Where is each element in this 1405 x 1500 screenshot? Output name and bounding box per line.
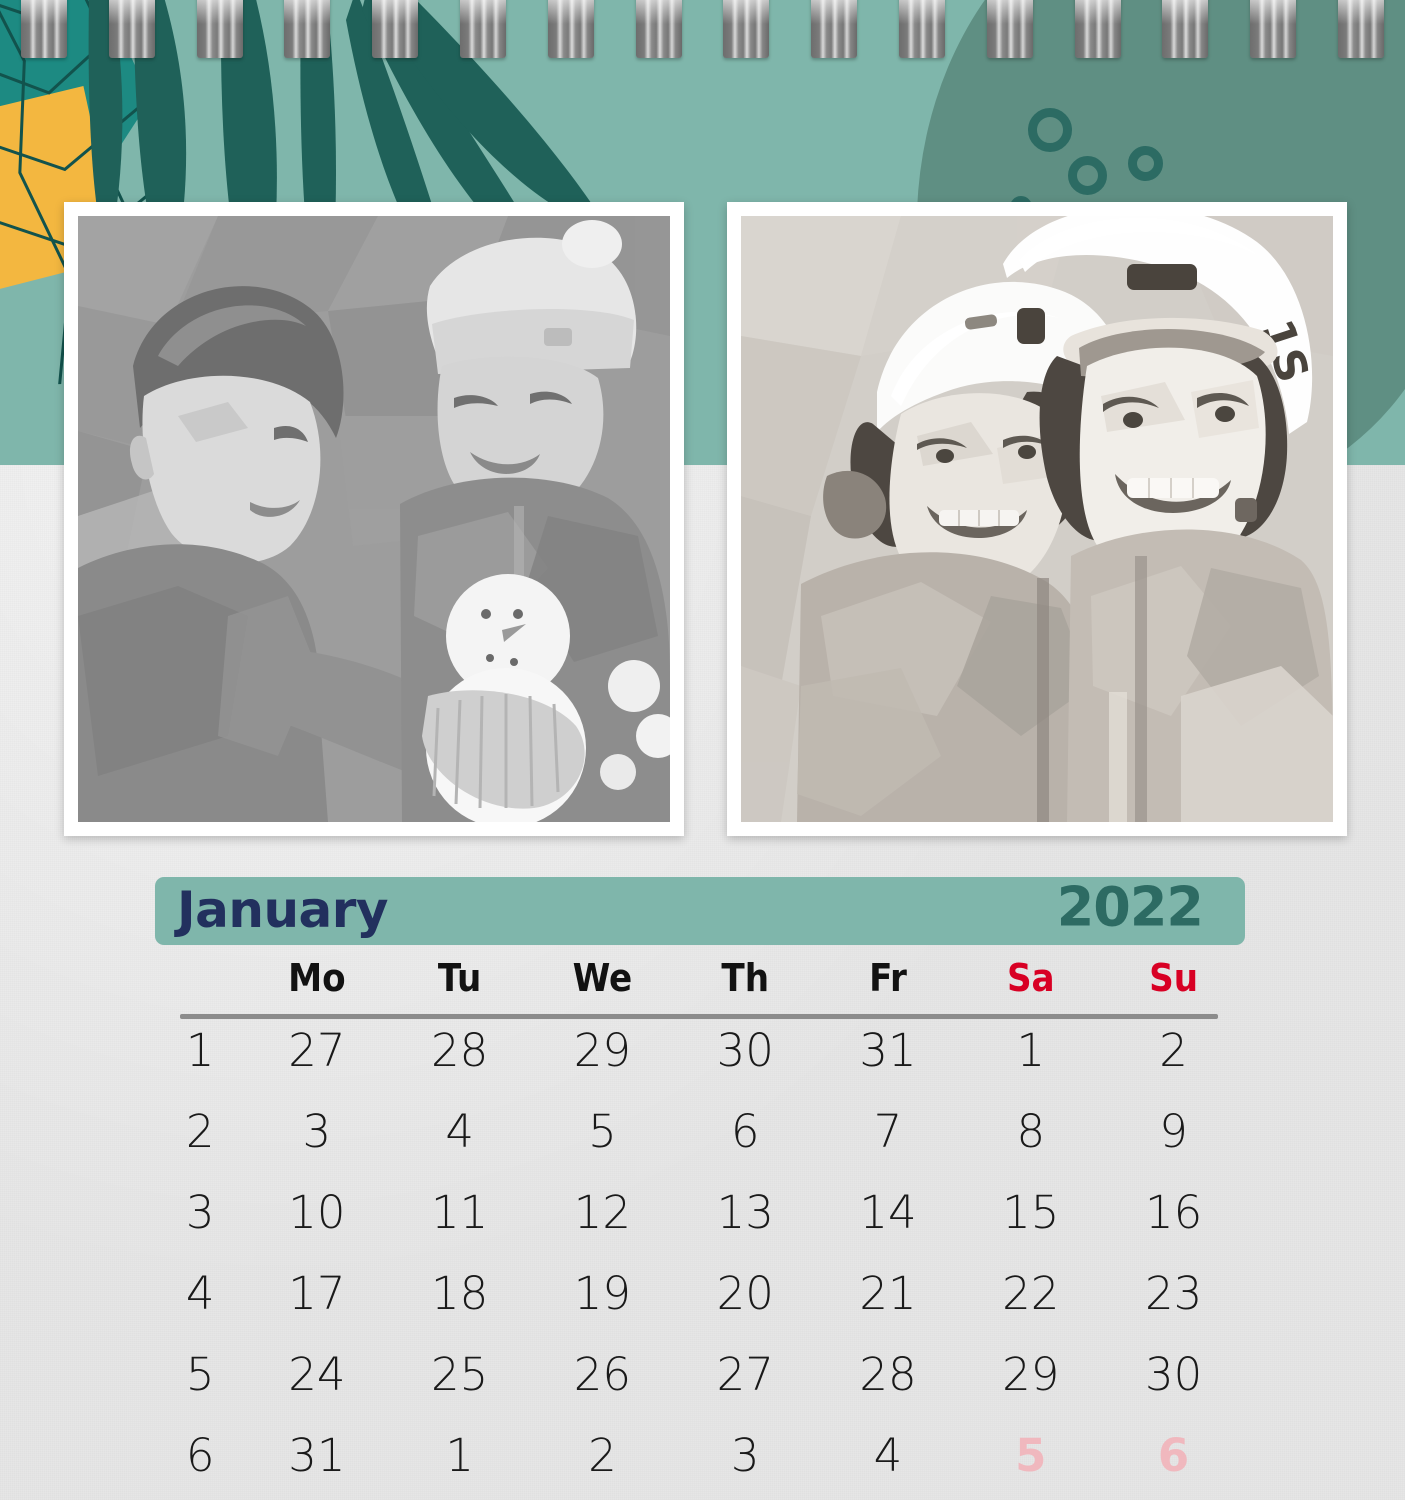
weekday-header-th: Th xyxy=(674,952,817,1010)
photo-frame-snowman[interactable] xyxy=(64,202,684,836)
calendar-day-cell[interactable]: 25 xyxy=(388,1334,531,1415)
photo-image-snowman xyxy=(78,216,670,822)
header-divider-line xyxy=(180,1014,1218,1019)
weekday-header-tu: Tu xyxy=(388,952,531,1010)
calendar-day-cell[interactable]: 18 xyxy=(388,1253,531,1334)
spiral-binding-clip xyxy=(1250,0,1296,58)
calendar-week-row: 524252627282930 xyxy=(155,1334,1245,1415)
calendar-day-cell[interactable]: 2 xyxy=(1102,1010,1245,1091)
spiral-binding-clip xyxy=(284,0,330,58)
spiral-binding-clip xyxy=(987,0,1033,58)
calendar-day-cell[interactable]: 3 xyxy=(245,1091,388,1172)
calendar-day-cell[interactable]: 4 xyxy=(388,1091,531,1172)
spiral-binding-clip xyxy=(1075,0,1121,58)
spiral-binding-clip xyxy=(21,0,67,58)
calendar-day-cell[interactable]: 16 xyxy=(1102,1172,1245,1253)
calendar-day-cell[interactable]: 10 xyxy=(245,1172,388,1253)
photo-image-ski-helmets: 1S xyxy=(741,216,1333,822)
calendar-day-cell[interactable]: 21 xyxy=(817,1253,960,1334)
calendar-week-row: 631123456 xyxy=(155,1415,1245,1496)
spiral-binding-clip xyxy=(1162,0,1208,58)
ring-circle-icon xyxy=(1128,146,1163,181)
week-number: 1 xyxy=(155,1010,245,1091)
calendar-day-cell[interactable]: 6 xyxy=(674,1091,817,1172)
spiral-binding-clip xyxy=(460,0,506,58)
photo-frame-ski-helmets[interactable]: 1S xyxy=(727,202,1347,836)
calendar-grid: MoTuWeThFrSaSu 1272829303112234567893101… xyxy=(155,952,1245,1496)
calendar-day-cell[interactable]: 27 xyxy=(245,1010,388,1091)
calendar-day-cell[interactable]: 22 xyxy=(959,1253,1102,1334)
spiral-binding-clip xyxy=(197,0,243,58)
calendar-day-cell[interactable]: 14 xyxy=(817,1172,960,1253)
weekday-header-sa: Sa xyxy=(959,952,1102,1010)
weekday-header-row: MoTuWeThFrSaSu xyxy=(155,952,1245,1010)
week-number: 6 xyxy=(155,1415,245,1496)
calendar-day-cell[interactable]: 12 xyxy=(531,1172,674,1253)
week-number: 4 xyxy=(155,1253,245,1334)
calendar-day-cell[interactable]: 9 xyxy=(1102,1091,1245,1172)
calendar-day-cell[interactable]: 15 xyxy=(959,1172,1102,1253)
calendar-day-cell[interactable]: 24 xyxy=(245,1334,388,1415)
calendar-day-cell[interactable]: 1 xyxy=(388,1415,531,1496)
spiral-binding-clip xyxy=(109,0,155,58)
spiral-binding xyxy=(0,0,1405,58)
weekday-header-mo: Mo xyxy=(245,952,388,1010)
weekday-header-fr: Fr xyxy=(817,952,960,1010)
calendar-day-cell[interactable]: 3 xyxy=(674,1415,817,1496)
calendar-day-cell[interactable]: 6 xyxy=(1102,1415,1245,1496)
calendar-day-cell[interactable]: 1 xyxy=(959,1010,1102,1091)
week-number: 5 xyxy=(155,1334,245,1415)
calendar-day-cell[interactable]: 17 xyxy=(245,1253,388,1334)
calendar-day-cell[interactable]: 11 xyxy=(388,1172,531,1253)
calendar-day-cell[interactable]: 20 xyxy=(674,1253,817,1334)
calendar-day-cell[interactable]: 26 xyxy=(531,1334,674,1415)
spiral-binding-clip xyxy=(1338,0,1384,58)
spiral-binding-clip xyxy=(723,0,769,58)
spiral-binding-clip xyxy=(548,0,594,58)
week-number: 2 xyxy=(155,1091,245,1172)
calendar-day-cell[interactable]: 29 xyxy=(531,1010,674,1091)
calendar-day-cell[interactable]: 28 xyxy=(817,1334,960,1415)
month-name-label: January xyxy=(177,881,388,939)
calendar-day-cell[interactable]: 31 xyxy=(817,1010,960,1091)
spiral-binding-clip xyxy=(899,0,945,58)
calendar-day-cell[interactable]: 31 xyxy=(245,1415,388,1496)
calendar-day-cell[interactable]: 29 xyxy=(959,1334,1102,1415)
week-number: 3 xyxy=(155,1172,245,1253)
ring-circle-icon xyxy=(1068,156,1107,195)
calendar-day-cell[interactable]: 2 xyxy=(531,1415,674,1496)
month-header-bar: January 2022 xyxy=(155,877,1245,945)
weekday-header-su: Su xyxy=(1102,952,1245,1010)
calendar-day-cell[interactable]: 8 xyxy=(959,1091,1102,1172)
weekday-header-we: We xyxy=(531,952,674,1010)
spiral-binding-clip xyxy=(811,0,857,58)
calendar-day-cell[interactable]: 5 xyxy=(531,1091,674,1172)
calendar-day-cell[interactable]: 23 xyxy=(1102,1253,1245,1334)
calendar-day-cell[interactable]: 7 xyxy=(817,1091,960,1172)
ring-circle-icon xyxy=(1028,108,1072,152)
year-label: 2022 xyxy=(1057,876,1203,939)
calendar-day-cell[interactable]: 27 xyxy=(674,1334,817,1415)
calendar-day-cell[interactable]: 30 xyxy=(1102,1334,1245,1415)
calendar-day-cell[interactable]: 30 xyxy=(674,1010,817,1091)
calendar-day-cell[interactable]: 19 xyxy=(531,1253,674,1334)
spiral-binding-clip xyxy=(372,0,418,58)
calendar-body: 1272829303112234567893101112131415164171… xyxy=(155,1010,1245,1496)
calendar-day-cell[interactable]: 5 xyxy=(959,1415,1102,1496)
calendar-week-row: 417181920212223 xyxy=(155,1253,1245,1334)
calendar-table: MoTuWeThFrSaSu 1272829303112234567893101… xyxy=(155,952,1245,1496)
calendar-day-cell[interactable]: 4 xyxy=(817,1415,960,1496)
calendar-week-row: 23456789 xyxy=(155,1091,1245,1172)
spiral-binding-clip xyxy=(636,0,682,58)
calendar-day-cell[interactable]: 28 xyxy=(388,1010,531,1091)
calendar-week-row: 1272829303112 xyxy=(155,1010,1245,1091)
calendar-week-row: 310111213141516 xyxy=(155,1172,1245,1253)
calendar-day-cell[interactable]: 13 xyxy=(674,1172,817,1253)
week-number-column-header xyxy=(155,952,245,1010)
